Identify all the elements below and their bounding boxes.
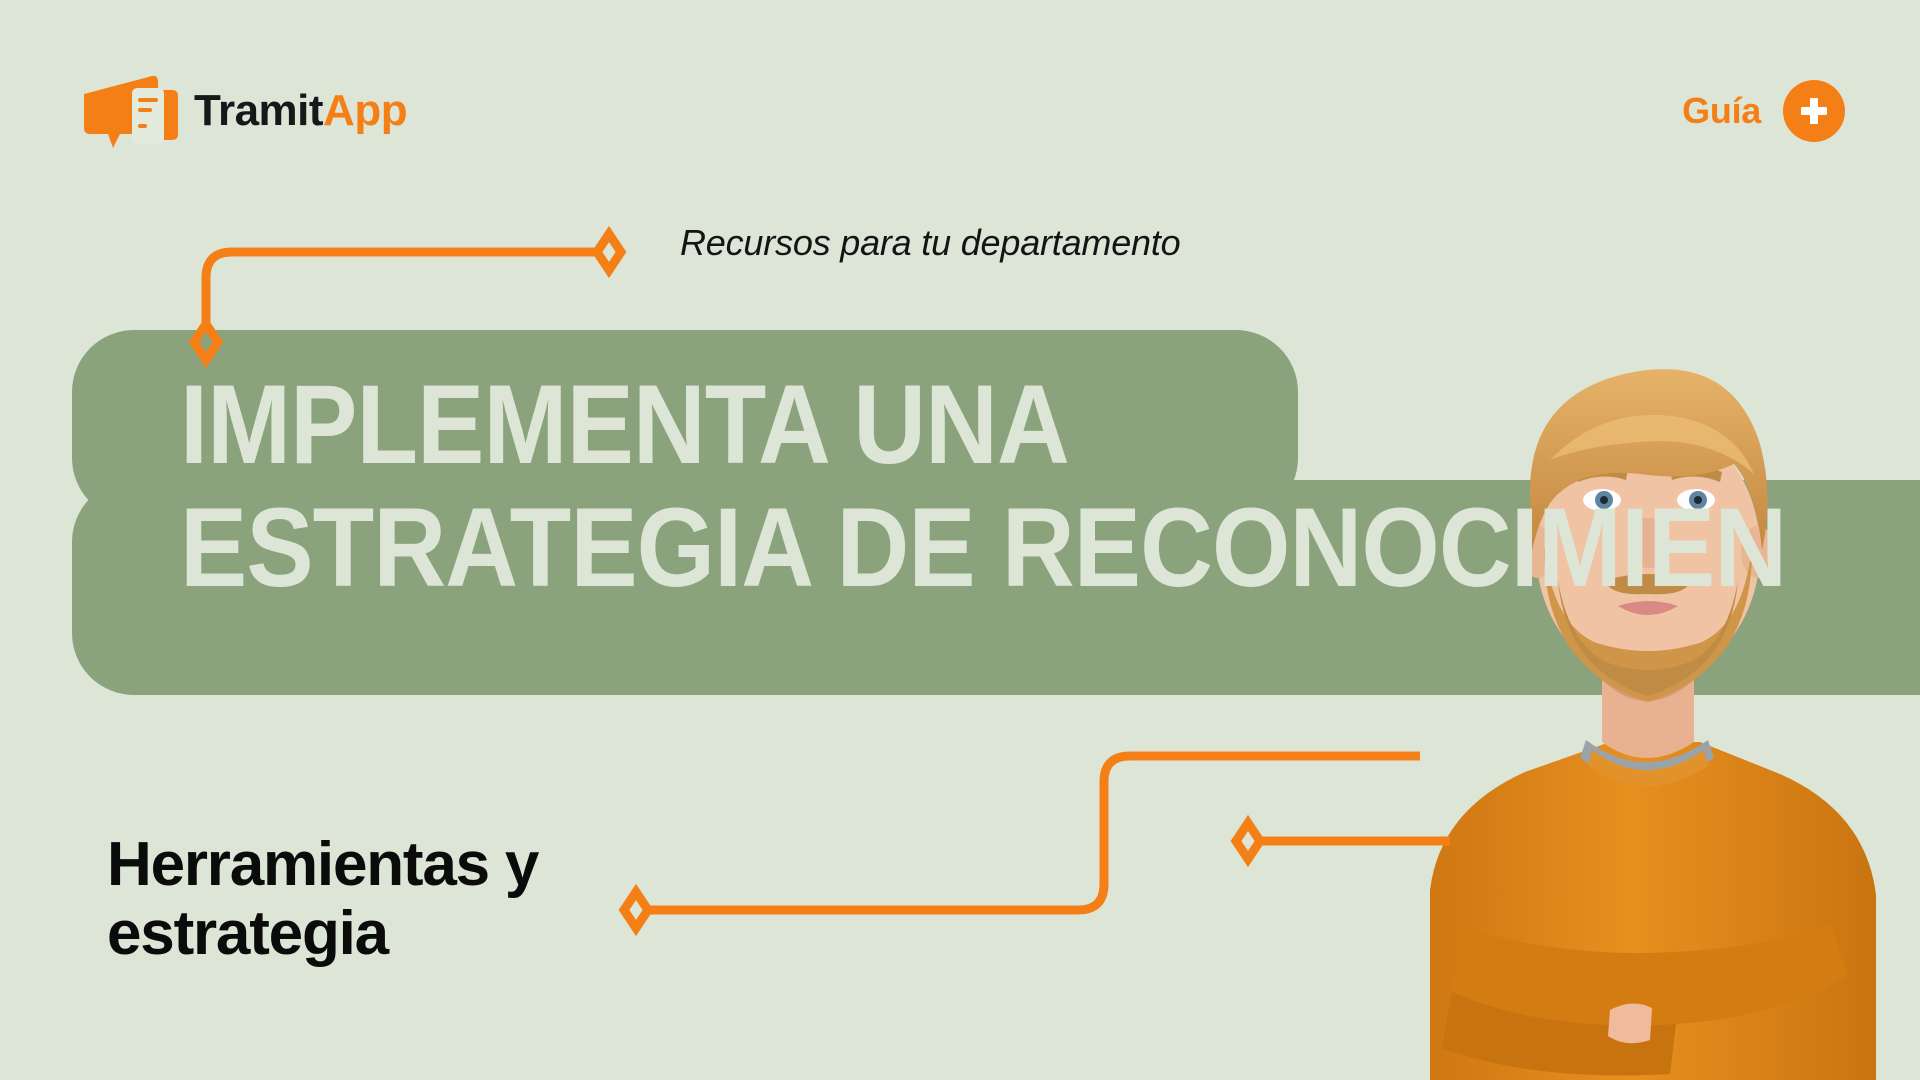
subhead-line-1: Herramientas y [107,830,538,899]
eyebrow-text: Recursos para tu departamento [680,222,1181,264]
speech-bubble-document-icon [80,72,180,150]
plus-icon[interactable] [1783,80,1845,142]
brand-wordmark: TramitApp [194,89,407,133]
guia-label: Guía [1682,93,1761,129]
subhead-text: Herramientas y estrategia [107,830,538,969]
brand-word-tramit: Tramit [194,86,323,135]
slide-canvas: TramitApp Guía Recursos para tu departam… [0,0,1920,1080]
subhead-line-2: estrategia [107,899,538,968]
guia-button[interactable]: Guía [1682,80,1845,142]
brand-word-app: App [323,86,407,135]
brand-logo[interactable]: TramitApp [80,72,407,150]
person-photo [1310,250,1920,1080]
connector-bottom [624,756,1420,928]
